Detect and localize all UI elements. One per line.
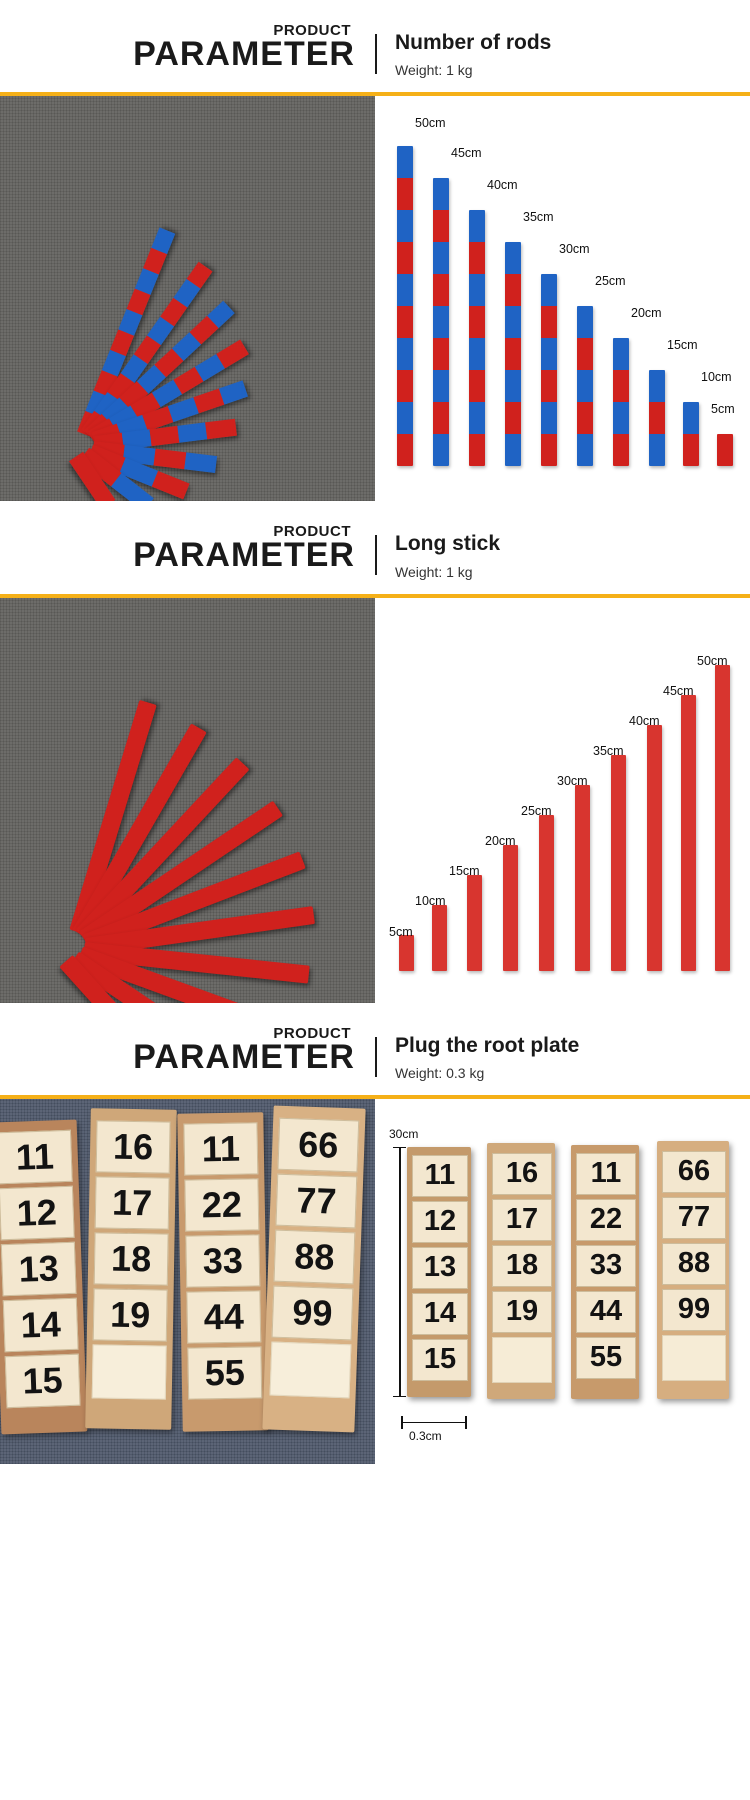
product-word-2: PRODUCT [271, 523, 353, 540]
stick-10 [432, 905, 447, 971]
chart-plate-1: 11 12 13 14 15 [407, 1147, 471, 1397]
stick-label-30: 30cm [557, 774, 588, 788]
photo-card-4-1: 66 [277, 1117, 359, 1172]
chart-card-3-2: 22 [576, 1199, 636, 1241]
chart-card-2-4: 19 [492, 1291, 552, 1333]
chart-rod-15 [649, 370, 665, 466]
red-blue-number-rods-fan-photo [0, 96, 375, 501]
red-long-sticks-length-chart: 5cm 10cm 15cm 20cm 25cm 30cm 35cm 40cm 4… [375, 598, 750, 1003]
photo-plate-4: 66 77 88 99 [262, 1105, 365, 1432]
chart-card-1-2: 12 [412, 1201, 468, 1243]
stick-label-25: 25cm [521, 804, 552, 818]
stick-label-45: 45cm [663, 684, 694, 698]
parameter-logo-block-3: PARAMETER PRODUCT [0, 1025, 375, 1081]
chart-plate-4: 66 77 88 99 [657, 1141, 729, 1399]
chart-card-4-3: 88 [662, 1243, 726, 1285]
chart-card-2-blank [492, 1337, 552, 1383]
parameter-word-1: PARAMETER [133, 35, 355, 74]
photo-card-4-blank [270, 1341, 352, 1398]
media-row-2: 5cm 10cm 15cm 20cm 25cm 30cm 35cm 40cm 4… [0, 598, 750, 1003]
media-row-1: 50cm 45cm [0, 96, 750, 501]
stick-20 [503, 845, 518, 971]
section-header-long-stick: PARAMETER PRODUCT Long stick Weight: 1 k… [0, 501, 750, 593]
photo-card-3-4: 44 [186, 1290, 261, 1343]
stick-25 [539, 815, 554, 971]
photo-plate-3: 11 22 33 44 55 [177, 1112, 269, 1431]
photo-card-3-1: 11 [183, 1122, 258, 1175]
photo-card-2-blank [92, 1344, 167, 1399]
chart-card-2-2: 17 [492, 1199, 552, 1241]
chart-label-20: 20cm [631, 306, 662, 320]
chart-rod-20 [613, 338, 629, 466]
number-plates-dimension-chart: 30cm 0.3cm 11 12 13 14 15 16 17 18 19 [375, 1099, 750, 1464]
chart-card-3-4: 44 [576, 1291, 636, 1333]
stick-35 [611, 755, 626, 971]
photo-card-4-2: 77 [275, 1173, 357, 1228]
chart-plate-2: 16 17 18 19 [487, 1143, 555, 1399]
chart-card-2-1: 16 [492, 1153, 552, 1195]
header-text-block-2: Long stick Weight: 1 kg [377, 523, 500, 579]
photo-card-1-4: 14 [3, 1297, 79, 1352]
chart-card-1-3: 13 [412, 1247, 468, 1289]
thickness-arrow-left [401, 1416, 403, 1429]
chart-card-4-2: 77 [662, 1197, 726, 1239]
chart-label-40: 40cm [487, 178, 518, 192]
photo-card-2-3: 18 [94, 1232, 169, 1285]
chart-plate-3: 11 22 33 44 55 [571, 1145, 639, 1399]
section-title-2: Long stick [395, 531, 500, 557]
parameter-word-3: PARAMETER [133, 1038, 355, 1077]
photo-card-2-1: 16 [96, 1120, 171, 1173]
chart-card-3-3: 33 [576, 1245, 636, 1287]
chart-rod-35 [505, 242, 521, 466]
chart-card-1-4: 14 [412, 1293, 468, 1335]
stick-label-20: 20cm [485, 834, 516, 848]
section-weight-2: Weight: 1 kg [395, 564, 500, 580]
height-label: 30cm [389, 1127, 418, 1141]
section-header-plug-root-plate: PARAMETER PRODUCT Plug the root plate We… [0, 1003, 750, 1095]
thickness-arrow-right [465, 1416, 467, 1429]
parameter-logo-block-2: PARAMETER PRODUCT [0, 523, 375, 579]
chart-rod-50 [397, 146, 413, 466]
header-text-block-1: Number of rods Weight: 1 kg [377, 22, 551, 78]
chart-card-1-1: 11 [412, 1155, 468, 1197]
media-row-3: 11 12 13 14 15 16 17 18 19 11 22 33 44 5… [0, 1099, 750, 1464]
chart-label-35: 35cm [523, 210, 554, 224]
stick-label-50: 50cm [697, 654, 728, 668]
red-long-sticks-fan-photo [0, 598, 375, 1003]
chart-card-3-5: 55 [576, 1337, 636, 1379]
thickness-dimension-line [401, 1422, 467, 1424]
photo-card-1-2: 12 [0, 1186, 75, 1241]
thickness-label: 0.3cm [409, 1429, 442, 1443]
chart-label-15: 15cm [667, 338, 698, 352]
photo-card-1-1: 11 [0, 1130, 73, 1185]
product-parameter-page: PARAMETER PRODUCT Number of rods Weight:… [0, 0, 750, 1464]
height-arrow-top [393, 1147, 406, 1149]
product-word-3: PRODUCT [271, 1025, 353, 1042]
stick-15 [467, 875, 482, 971]
chart-rod-45 [433, 178, 449, 466]
header-text-block-3: Plug the root plate Weight: 0.3 kg [377, 1025, 579, 1081]
photo-plate-1: 11 12 13 14 15 [0, 1119, 87, 1434]
photo-card-1-5: 15 [5, 1353, 81, 1408]
photo-plate-2: 16 17 18 19 [85, 1108, 177, 1429]
chart-card-4-1: 66 [662, 1151, 726, 1193]
stick-label-35: 35cm [593, 744, 624, 758]
photo-card-2-4: 19 [93, 1288, 168, 1341]
number-plates-photo: 11 12 13 14 15 16 17 18 19 11 22 33 44 5… [0, 1099, 375, 1464]
photo-card-4-4: 99 [272, 1285, 354, 1340]
chart-card-2-3: 18 [492, 1245, 552, 1287]
section-weight-1: Weight: 1 kg [395, 62, 551, 78]
stick-50 [715, 665, 730, 971]
chart-rod-40 [469, 210, 485, 466]
chart-card-3-1: 11 [576, 1153, 636, 1195]
height-arrow-bottom [393, 1396, 406, 1398]
stick-5 [399, 935, 414, 971]
stick-label-40: 40cm [629, 714, 660, 728]
height-dimension-line [399, 1147, 401, 1397]
photo-card-3-3: 33 [185, 1234, 260, 1287]
stick-30 [575, 785, 590, 971]
parameter-word-2: PARAMETER [133, 536, 355, 575]
photo-card-4-3: 88 [274, 1229, 356, 1284]
product-word-1: PRODUCT [271, 22, 353, 39]
parameter-logo-block-1: PARAMETER PRODUCT [0, 22, 375, 78]
photo-card-2-2: 17 [95, 1176, 170, 1229]
chart-label-50: 50cm [415, 116, 446, 130]
chart-label-10: 10cm [701, 370, 732, 384]
chart-rod-10 [683, 402, 699, 466]
section-title-3: Plug the root plate [395, 1033, 579, 1059]
chart-label-45: 45cm [451, 146, 482, 160]
stick-label-5: 5cm [389, 925, 413, 939]
chart-card-4-blank [662, 1335, 726, 1381]
photo-card-1-3: 13 [1, 1241, 77, 1296]
stick-label-15: 15cm [449, 864, 480, 878]
photo-card-3-2: 22 [184, 1178, 259, 1231]
chart-label-30: 30cm [559, 242, 590, 256]
chart-rod-30 [541, 274, 557, 466]
chart-label-5: 5cm [711, 402, 735, 416]
chart-card-1-5: 15 [412, 1339, 468, 1381]
photo-card-3-5: 55 [187, 1346, 262, 1399]
chart-rod-5 [717, 434, 733, 466]
stick-45 [681, 695, 696, 971]
stick-40 [647, 725, 662, 971]
section-header-number-of-rods: PARAMETER PRODUCT Number of rods Weight:… [0, 0, 750, 92]
section-weight-3: Weight: 0.3 kg [395, 1065, 579, 1081]
red-blue-number-rods-length-chart: 50cm 45cm [375, 96, 750, 501]
section-title-1: Number of rods [395, 30, 551, 56]
chart-card-4-4: 99 [662, 1289, 726, 1331]
chart-rod-25 [577, 306, 593, 466]
chart-label-25: 25cm [595, 274, 626, 288]
stick-label-10: 10cm [415, 894, 446, 908]
